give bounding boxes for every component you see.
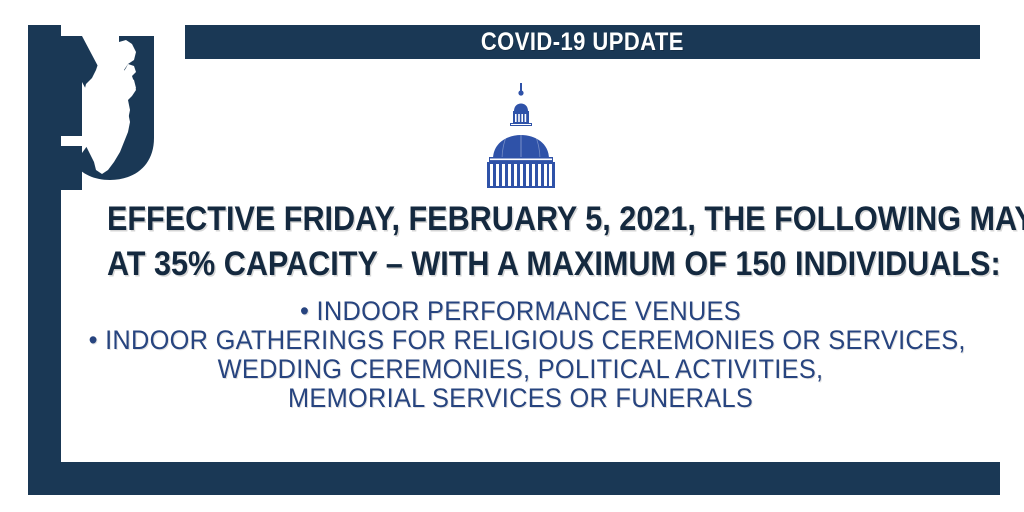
headline-line-2: AT 35% CAPACITY – WITH A MAXIMUM OF 150 … — [107, 242, 934, 287]
bullet-line-3: WEDDING CEREMONIES, POLITICAL ACTIVITIES… — [89, 355, 953, 384]
header-bar: COVID-19 UPDATE — [185, 25, 980, 59]
bullet-line-1: • INDOOR PERFORMANCE VENUES — [89, 297, 953, 326]
headline-line-1: EFFECTIVE FRIDAY, FEBRUARY 5, 2021, THE … — [107, 197, 934, 242]
frame-bottom-bar — [28, 462, 1000, 495]
covid-update-poster: EFFECTIVE FRIDAY, FEBRUARY 5, 2021, THE … — [0, 0, 1024, 512]
header-title: COVID-19 UPDATE — [481, 28, 684, 57]
bullet-line-4: MEMORIAL SERVICES OR FUNERALS — [89, 384, 953, 413]
nj-logo — [24, 18, 189, 190]
content-panel: EFFECTIVE FRIDAY, FEBRUARY 5, 2021, THE … — [61, 59, 980, 462]
headline-block: EFFECTIVE FRIDAY, FEBRUARY 5, 2021, THE … — [61, 197, 980, 287]
bullet-line-2: • INDOOR GATHERINGS FOR RELIGIOUS CEREMO… — [89, 326, 953, 355]
capitol-dome-icon — [473, 83, 569, 191]
bullet-list: • INDOOR PERFORMANCE VENUES • INDOOR GAT… — [61, 297, 980, 413]
